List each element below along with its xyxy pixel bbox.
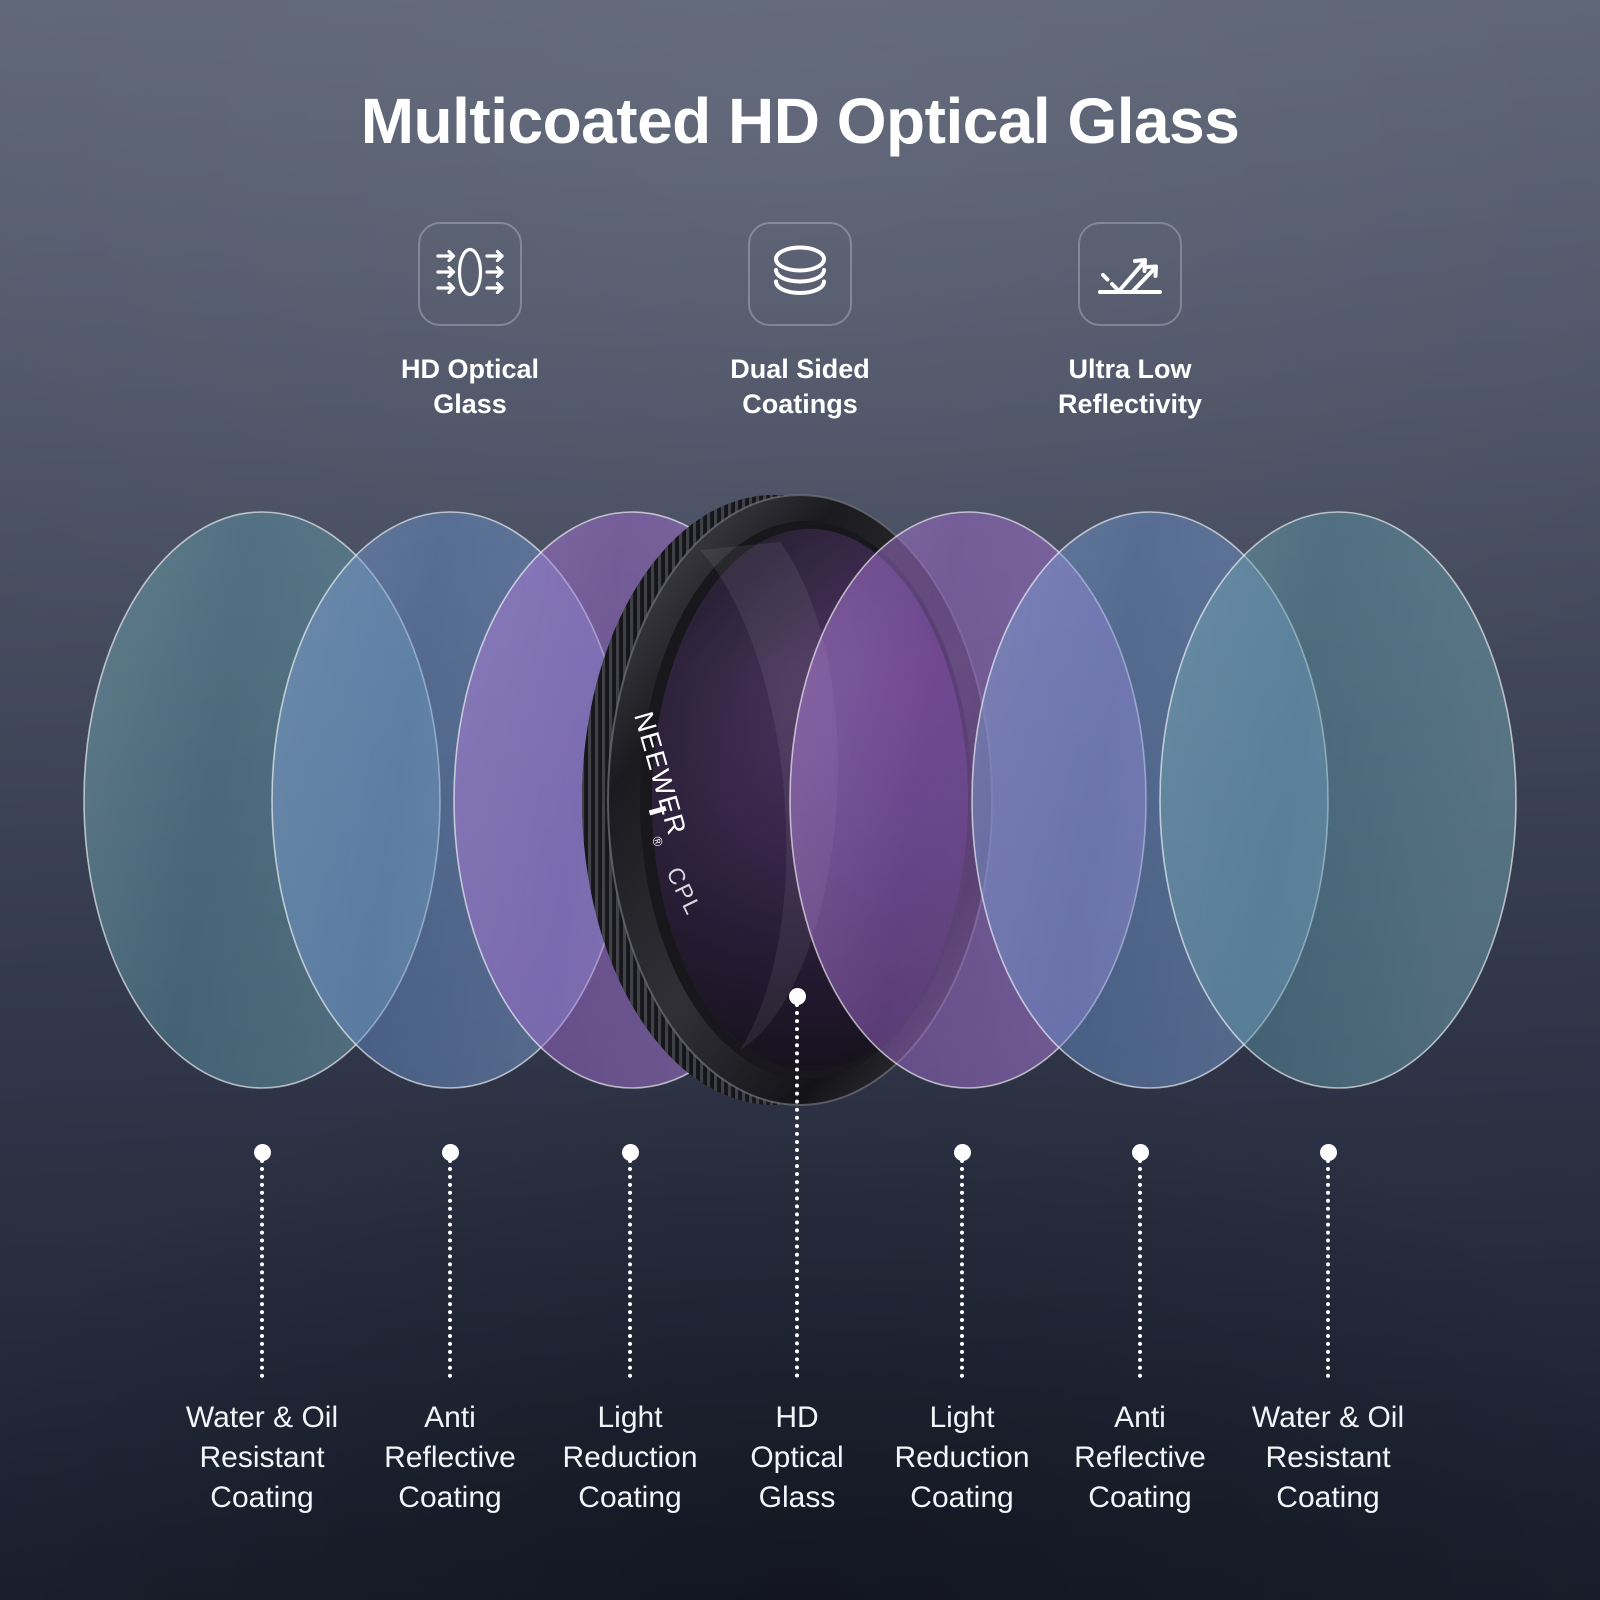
callout-label: Water & Oil Resistant Coating (186, 1398, 338, 1518)
lens-light-transmission-icon (434, 241, 506, 308)
water-oil-resistant-coating-right (1160, 512, 1516, 1088)
callout-labels: Water & Oil Resistant CoatingAnti Reflec… (0, 1398, 1600, 1538)
callout-label: Light Reduction Coating (562, 1398, 697, 1518)
feature-dual-sided-coatings: Dual Sided Coatings (635, 222, 965, 422)
callout-label: Water & Oil Resistant Coating (1252, 1398, 1404, 1518)
feature-label: Dual Sided Coatings (730, 352, 870, 422)
product-infographic: Multicoated HD Optical Glass (0, 0, 1600, 1600)
callout-label: HD Optical Glass (750, 1398, 843, 1518)
feature-ultra-low-reflectivity: Ultra Low Reflectivity (965, 222, 1295, 422)
low-reflectivity-rays-icon (1095, 244, 1165, 305)
callout-label: Anti Reflective Coating (1074, 1398, 1206, 1518)
feature-highlights-row: HD Optical Glass Dual Sided Coatings (0, 222, 1600, 422)
feature-label: HD Optical Glass (401, 352, 539, 422)
feature-icon-box (1078, 222, 1182, 326)
feature-label: Ultra Low Reflectivity (1058, 352, 1202, 422)
page-title: Multicoated HD Optical Glass (0, 84, 1600, 158)
coating-disc-sheen (1160, 512, 1516, 1088)
callout-label: Anti Reflective Coating (384, 1398, 516, 1518)
stacked-coating-layers-icon (768, 243, 832, 306)
feature-hd-optical-glass: HD Optical Glass (305, 222, 635, 422)
callout-label: Light Reduction Coating (894, 1398, 1029, 1518)
feature-icon-box (748, 222, 852, 326)
feature-icon-box (418, 222, 522, 326)
